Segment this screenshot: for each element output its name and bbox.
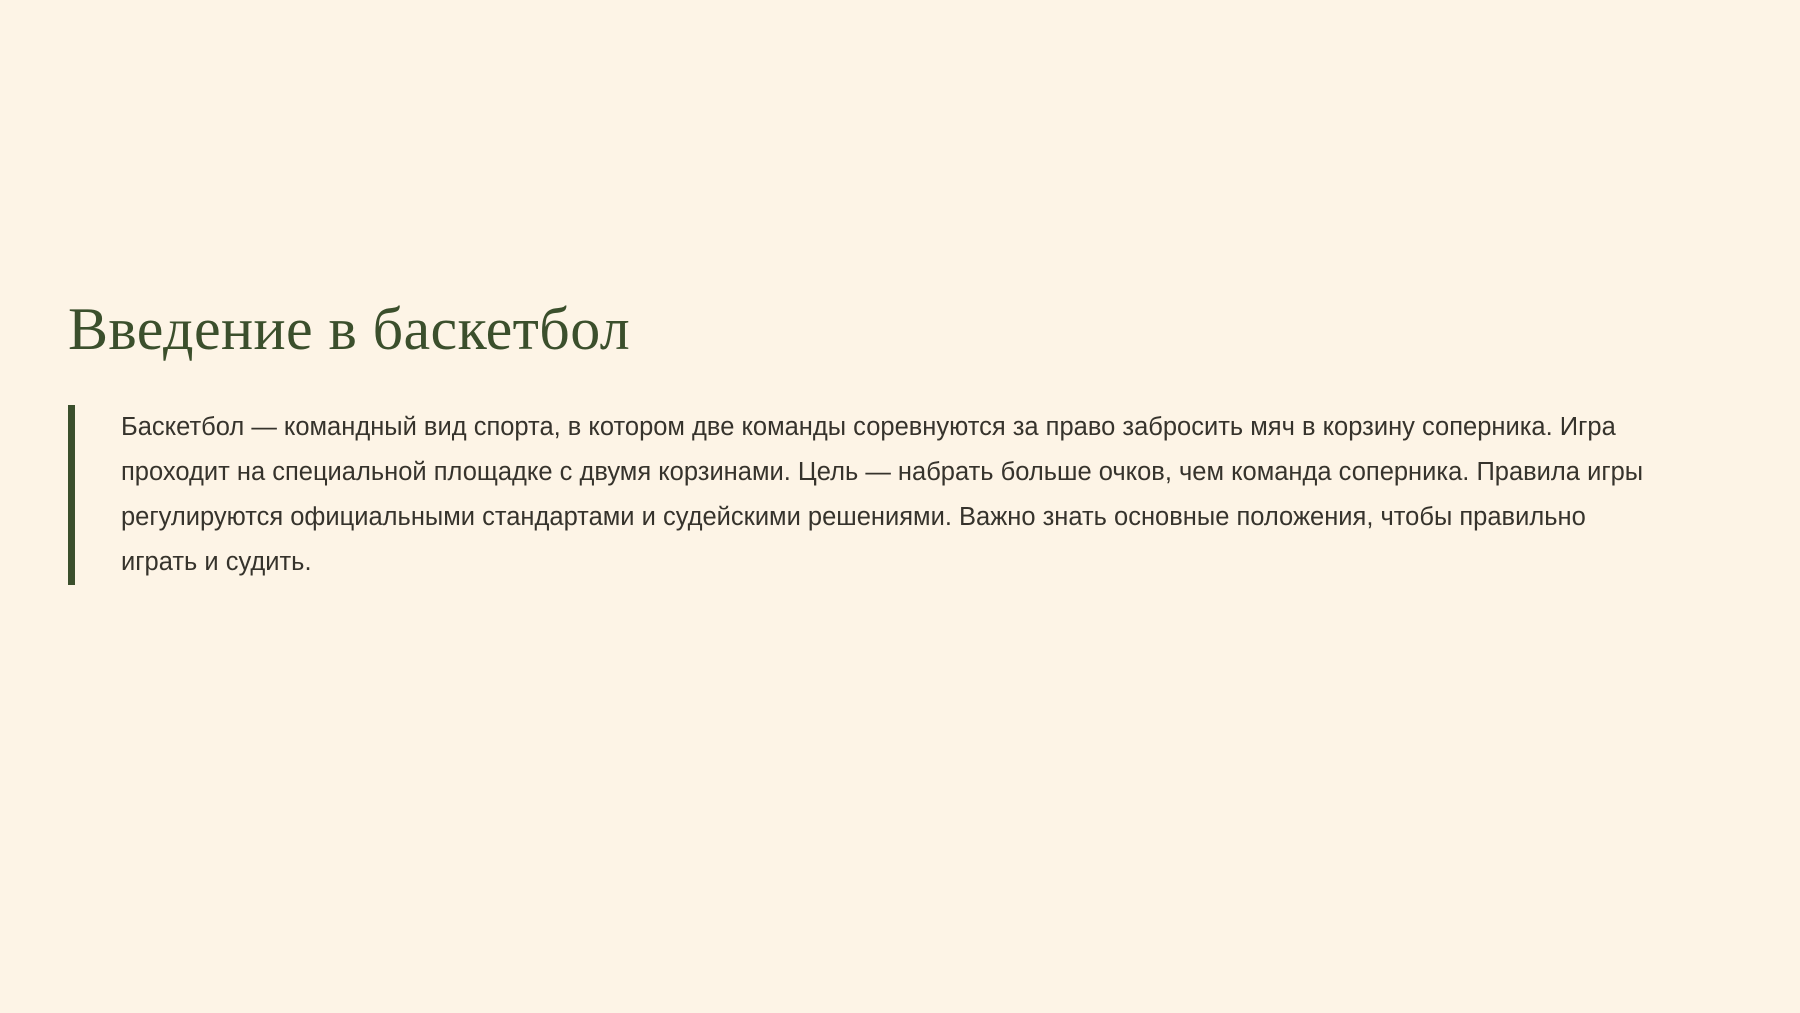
page-title: Введение в баскетбол	[68, 296, 1668, 363]
slide-canvas: Введение в баскетбол Баскетбол — командн…	[0, 0, 1800, 1013]
quote-block: Баскетбол — командный вид спорта, в кото…	[68, 405, 1668, 585]
body-paragraph: Баскетбол — командный вид спорта, в кото…	[121, 405, 1668, 585]
slide-content: Введение в баскетбол Баскетбол — командн…	[68, 296, 1668, 585]
